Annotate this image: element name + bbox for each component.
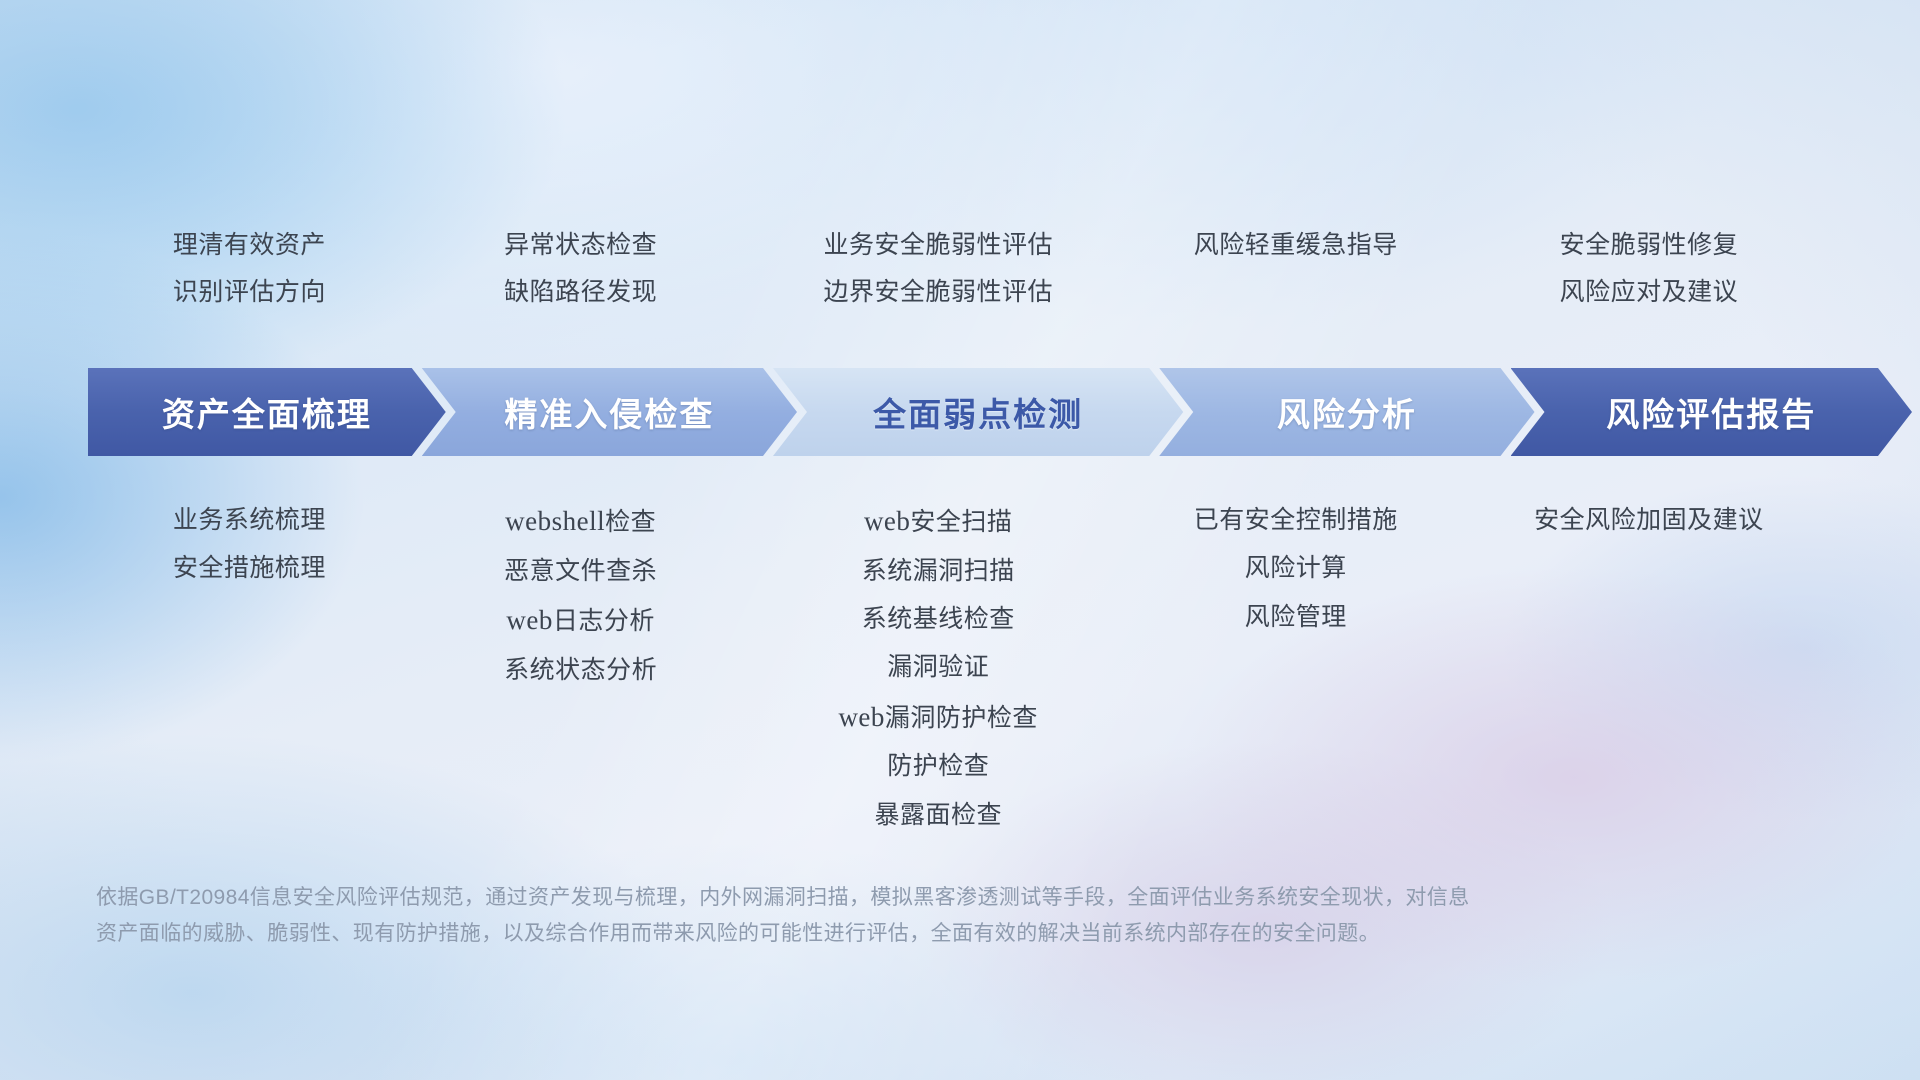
process-stage-label: 资产全面梳理 [162, 388, 372, 436]
stage-bottom-item-cjk: 检查 [605, 508, 656, 536]
stage-top-item: 异常状态检查 [504, 230, 657, 261]
stage-bottom-item: 业务系统梳理 [173, 505, 326, 536]
footnote: 依据GB/T20984信息安全风险评估规范，通过资产发现与梳理，内外网漏洞扫描，… [96, 880, 1796, 952]
stage-bottom-item: 防护检查 [887, 751, 989, 782]
stage-bottom-item: web漏洞防护检查 [838, 701, 1038, 735]
stage-bottom-item-cjk: 已有安全控制措施 [1194, 506, 1398, 534]
process-stage-label: 全面弱点检测 [873, 388, 1083, 436]
stage-bottom-item-latin: web [864, 506, 910, 536]
stage-bottom-item: 系统基线检查 [862, 604, 1015, 635]
stage-bottom-item-cjk: 防护检查 [887, 752, 989, 780]
stage-bottom-item-cjk: 恶意文件查杀 [504, 557, 657, 585]
process-stage-label: 风险评估报告 [1606, 388, 1816, 436]
stage-bottom-item-cjk: 业务系统梳理 [173, 506, 326, 534]
stage-bottom-item: 系统状态分析 [504, 655, 657, 686]
stage-bottom-item-cjk: 漏洞验证 [887, 653, 989, 681]
stage-bottom-items-weakness-detection: web安全扫描系统漏洞扫描系统基线检查漏洞验证web漏洞防护检查防护检查暴露面检… [751, 505, 1126, 831]
stage-top-items-asset-inventory: 理清有效资产识别评估方向 [88, 230, 411, 309]
stage-bottom-item-cjk: 系统基线检查 [862, 605, 1015, 633]
process-stage-label: 精准入侵检查 [504, 388, 714, 436]
stage-bottom-item-latin: webshell [505, 506, 605, 536]
process-arrow-band: 资产全面梳理精准入侵检查全面弱点检测风险分析风险评估报告 [88, 368, 1838, 456]
process-stage-label: 风险分析 [1277, 388, 1417, 436]
process-stage-weakness-detection[interactable]: 全面弱点检测 [773, 368, 1183, 456]
stage-bottom-item-cjk: 安全风险加固及建议 [1534, 506, 1764, 534]
stage-bottom-item: 风险管理 [1245, 602, 1347, 633]
stage-top-items-intrusion-check: 异常状态检查缺陷路径发现 [411, 230, 751, 309]
stage-top-item: 业务安全脆弱性评估 [823, 230, 1053, 261]
stage-bottom-items-asset-inventory: 业务系统梳理安全措施梳理 [88, 505, 411, 831]
stage-bottom-item: 风险计算 [1245, 553, 1347, 584]
stage-bottom-item: 安全措施梳理 [173, 553, 326, 584]
stage-top-items-weakness-detection: 业务安全脆弱性评估边界安全脆弱性评估 [751, 230, 1126, 309]
stage-bottom-item: 恶意文件查杀 [504, 556, 657, 587]
stage-bottom-item-cjk: 安全措施梳理 [173, 554, 326, 582]
stage-top-item: 理清有效资产 [173, 230, 326, 261]
stage-bottom-item-latin: web [838, 702, 884, 732]
stage-bottom-item: 安全风险加固及建议 [1534, 505, 1764, 536]
stage-top-item: 识别评估方向 [173, 277, 326, 308]
stage-bottom-item-cjk: 日志分析 [553, 607, 655, 635]
stage-top-item: 边界安全脆弱性评估 [823, 277, 1053, 308]
stage-bottom-item: 漏洞验证 [887, 652, 989, 683]
process-stage-assessment-report[interactable]: 风险评估报告 [1511, 368, 1913, 456]
stage-bottom-item-cjk: 系统状态分析 [504, 656, 657, 684]
stage-bottom-item: 暴露面检查 [874, 800, 1002, 831]
stage-bottom-item-cjk: 漏洞防护检查 [885, 704, 1038, 732]
process-stage-intrusion-check[interactable]: 精准入侵检查 [422, 368, 797, 456]
stage-bottom-item-cjk: 风险计算 [1245, 554, 1347, 582]
process-stage-risk-analysis[interactable]: 风险分析 [1159, 368, 1534, 456]
process-stage-asset-inventory[interactable]: 资产全面梳理 [88, 368, 446, 456]
stage-top-items-risk-analysis: 风险轻重缓急指导 [1126, 230, 1466, 309]
stage-bottom-item: 系统漏洞扫描 [862, 556, 1015, 587]
stage-bottom-item-cjk: 安全扫描 [910, 508, 1012, 536]
stage-top-item: 风险应对及建议 [1560, 277, 1739, 308]
slide-canvas: 理清有效资产识别评估方向异常状态检查缺陷路径发现业务安全脆弱性评估边界安全脆弱性… [0, 0, 1920, 1080]
stage-top-items-assessment-report: 安全脆弱性修复风险应对及建议 [1466, 230, 1832, 309]
stage-bottom-item: webshell检查 [505, 505, 656, 539]
footnote-line-2: 资产面临的威胁、脆弱性、现有防护措施，以及综合作用而带来风险的可能性进行评估，全… [96, 916, 1796, 952]
stage-top-items-row: 理清有效资产识别评估方向异常状态检查缺陷路径发现业务安全脆弱性评估边界安全脆弱性… [88, 230, 1832, 309]
stage-top-item: 安全脆弱性修复 [1560, 230, 1739, 261]
stage-bottom-items-row: 业务系统梳理安全措施梳理webshell检查恶意文件查杀web日志分析系统状态分… [88, 505, 1832, 831]
stage-bottom-item-latin: web [506, 605, 552, 635]
stage-bottom-item: web安全扫描 [864, 505, 1013, 539]
stage-bottom-item-cjk: 暴露面检查 [874, 801, 1002, 829]
stage-bottom-items-assessment-report: 安全风险加固及建议 [1466, 505, 1832, 831]
stage-bottom-items-intrusion-check: webshell检查恶意文件查杀web日志分析系统状态分析 [411, 505, 751, 831]
stage-bottom-item: web日志分析 [506, 604, 655, 638]
footnote-line-1: 依据GB/T20984信息安全风险评估规范，通过资产发现与梳理，内外网漏洞扫描，… [96, 880, 1796, 916]
stage-bottom-items-risk-analysis: 已有安全控制措施风险计算风险管理 [1126, 505, 1466, 831]
stage-top-item: 缺陷路径发现 [504, 277, 657, 308]
stage-bottom-item-cjk: 系统漏洞扫描 [862, 557, 1015, 585]
stage-bottom-item-cjk: 风险管理 [1245, 603, 1347, 631]
stage-top-item: 风险轻重缓急指导 [1194, 230, 1398, 261]
stage-bottom-item: 已有安全控制措施 [1194, 505, 1398, 536]
slide-content: 理清有效资产识别评估方向异常状态检查缺陷路径发现业务安全脆弱性评估边界安全脆弱性… [0, 0, 1920, 1080]
